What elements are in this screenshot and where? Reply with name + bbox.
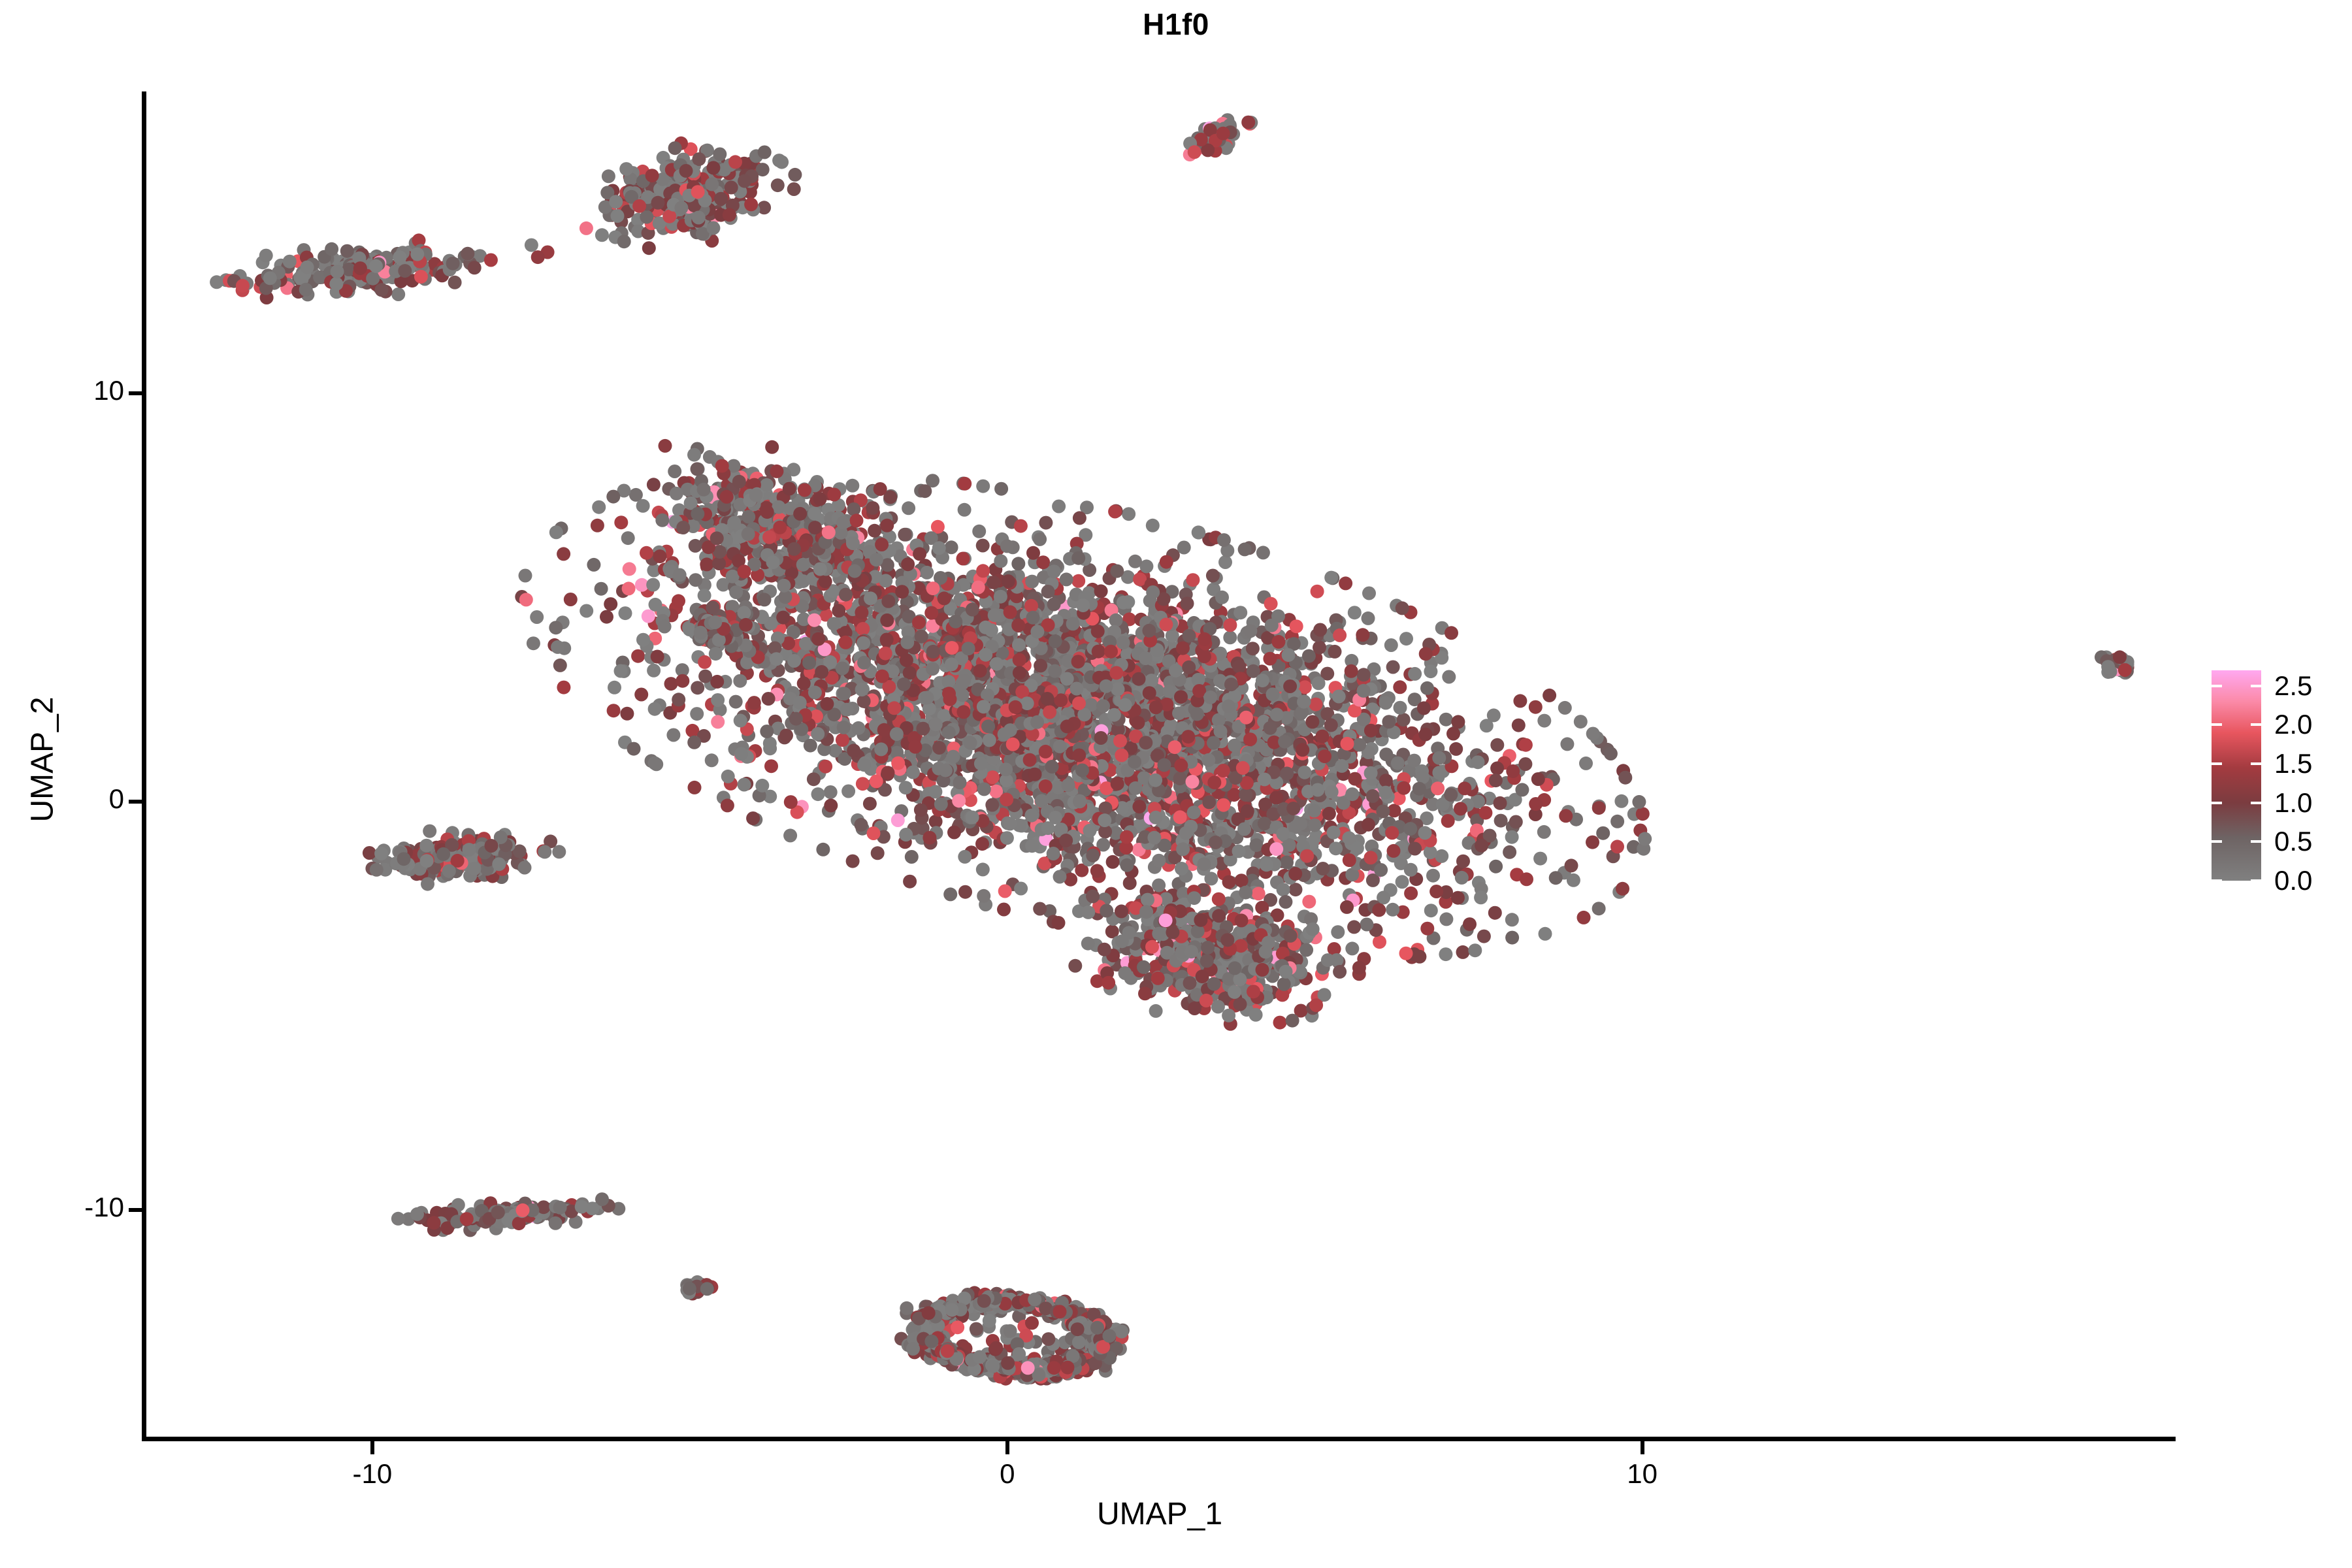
legend-tick-label: 2.0 [2274,709,2312,740]
y-tick-label: 10 [93,375,124,406]
legend-tick-label: 0.5 [2274,826,2312,857]
umap-feature-plot: H1f0 -10010 -10010 UMAP_1 UMAP_2 2.52.01… [0,0,2352,1568]
legend-tick-mark [2212,685,2222,687]
legend-tick-mark [2251,840,2261,843]
legend-tick-mark [2251,685,2261,687]
legend-tick-mark [2212,802,2222,804]
x-axis-title: UMAP_1 [144,1496,2176,1532]
y-tick-mark [129,391,142,395]
scatter-points-layer [144,91,2176,1439]
page-title: H1f0 [0,7,2352,42]
legend-tick-label: 1.0 [2274,787,2312,819]
legend-tick-mark [2251,802,2261,804]
plot-panel [144,91,2176,1439]
x-tick-mark [1641,1441,1644,1454]
legend-tick-mark [2212,723,2222,726]
legend-tick-mark [2251,879,2261,882]
y-tick-label: -10 [84,1192,124,1223]
legend-tick-label: 2.5 [2274,670,2312,702]
legend-tick-mark [2251,723,2261,726]
y-axis-title: UMAP_2 [25,400,61,1119]
legend-tick-mark [2212,879,2222,882]
x-tick-label: -10 [353,1458,393,1490]
legend-tick-mark [2212,762,2222,765]
legend-tick-label: 0.0 [2274,865,2312,896]
x-tick-mark [1005,1441,1009,1454]
x-tick-label: 10 [1627,1458,1658,1490]
x-tick-label: 0 [1000,1458,1015,1490]
y-tick-mark [129,800,142,804]
y-tick-mark [129,1208,142,1212]
x-axis-line [144,1437,2176,1441]
color-legend: 2.52.01.51.00.50.0 [2212,670,2342,886]
legend-tick-mark [2251,762,2261,765]
legend-tick-label: 1.5 [2274,748,2312,779]
y-tick-label: 0 [109,783,124,815]
legend-colorbar [2212,670,2261,881]
x-tick-mark [370,1441,374,1454]
legend-tick-mark [2212,840,2222,843]
y-axis-line [142,91,146,1441]
